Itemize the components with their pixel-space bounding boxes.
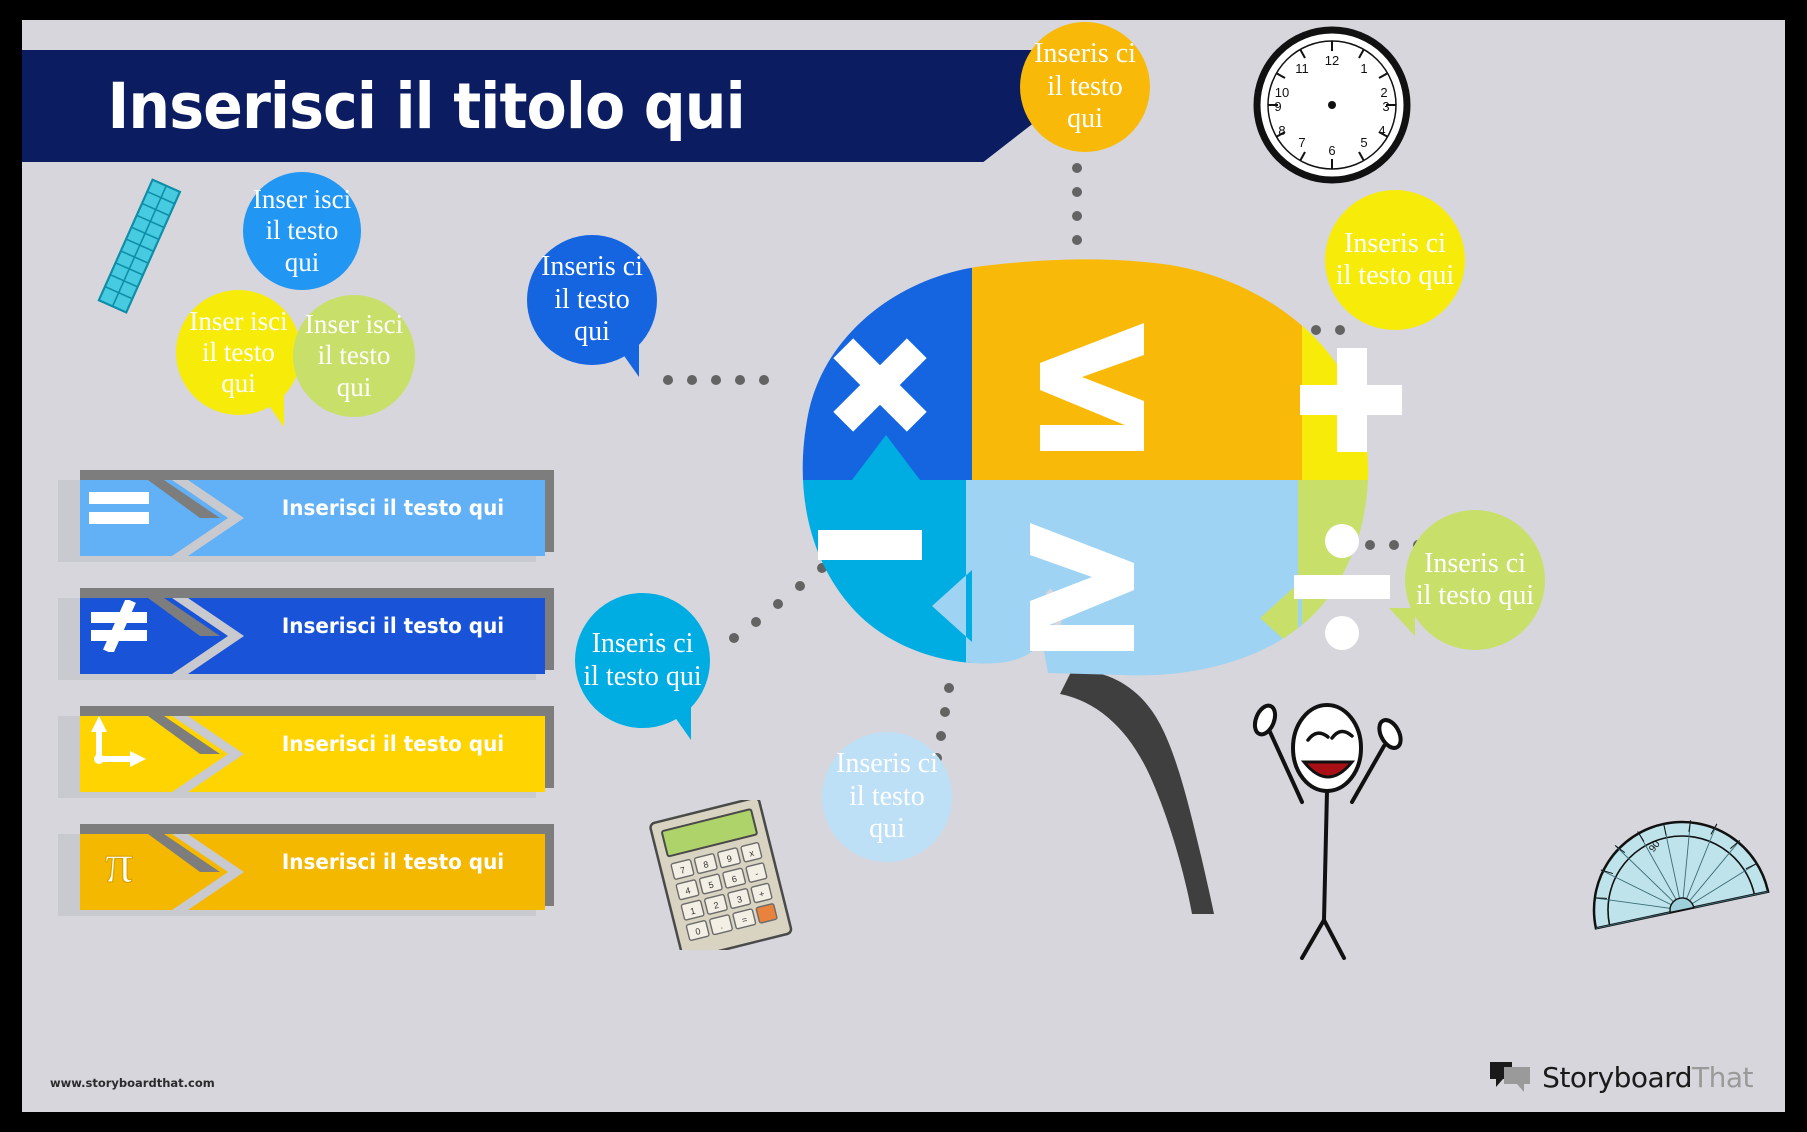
svg-text:11: 11	[1295, 61, 1309, 76]
storyboardthat-logo[interactable]: StoryboardThat	[1488, 1060, 1753, 1094]
bubble-brain-top-orange[interactable]: Inseris ci il testo qui	[1020, 22, 1150, 152]
bar-label: Inserisci il testo qui	[255, 706, 531, 782]
title-banner: Inserisci il titolo qui	[22, 50, 1067, 162]
poster-root: Inserisci il titolo qui	[0, 0, 1807, 1132]
bar-not-equal[interactable]: Inserisci il testo qui	[58, 588, 558, 677]
svg-text:1: 1	[1360, 61, 1367, 76]
bubble-text: Inseris ci il testo qui	[1325, 228, 1465, 293]
not-equal-icon	[64, 588, 174, 664]
protractor-icon: 90	[1582, 790, 1782, 940]
bubble-top-left-blue[interactable]: Inser isci il testo qui	[243, 172, 361, 290]
logo-text-primary: Storyboard	[1542, 1061, 1692, 1094]
bubble-left-yellow[interactable]: Inser isci il testo qui	[176, 290, 301, 415]
svg-text:5: 5	[1360, 135, 1367, 150]
logo-text-secondary: That	[1692, 1061, 1753, 1094]
bubble-text: Inseris ci il testo qui	[1020, 38, 1150, 135]
poster-canvas: Inserisci il titolo qui	[22, 20, 1785, 1112]
bar-axes[interactable]: Inserisci il testo qui	[58, 706, 558, 795]
footer-url[interactable]: www.storyboardthat.com	[50, 1076, 215, 1090]
bar-label: Inserisci il testo qui	[255, 824, 531, 900]
svg-text:6: 6	[1328, 143, 1335, 158]
svg-text:9: 9	[1274, 99, 1281, 114]
bubble-text: Inseris ci il testo qui	[527, 251, 657, 348]
bubble-brain-left-blue[interactable]: Inseris ci il testo qui	[527, 235, 657, 365]
svg-text:8: 8	[1278, 123, 1285, 138]
speech-bubbles-icon	[1488, 1060, 1532, 1094]
cheering-stick-figure	[1232, 670, 1422, 960]
bar-label: Inserisci il testo qui	[255, 470, 531, 546]
logo-text: StoryboardThat	[1542, 1061, 1753, 1094]
math-brain-graphic	[762, 255, 1402, 685]
bar-pi[interactable]: π Inserisci il testo qui	[58, 824, 558, 913]
bubble-text: Inser isci il testo qui	[176, 306, 301, 400]
pi-icon: π	[64, 824, 174, 900]
bar-list: Inserisci il testo qui I	[58, 470, 558, 942]
equals-icon	[64, 470, 174, 546]
analog-clock-icon: 1212 345 678 91011	[1252, 25, 1412, 185]
bubble-left-green[interactable]: Inser isci il testo qui	[293, 295, 415, 417]
bubble-text: Inseris ci il testo qui	[1405, 548, 1545, 613]
svg-text:π: π	[105, 833, 133, 892]
svg-text:4: 4	[1378, 123, 1385, 138]
bubble-bottom-lightblue[interactable]: Inseris ci il testo qui	[822, 732, 952, 862]
bubble-text: Inseris ci il testo qui	[822, 748, 952, 845]
axes-icon	[64, 706, 174, 782]
bubble-brain-cyan[interactable]: Inseris ci il testo qui	[575, 593, 710, 728]
page-title: Inserisci il titolo qui	[22, 70, 745, 143]
connector-dots-top-orange	[1062, 160, 1092, 260]
svg-text:10: 10	[1275, 85, 1289, 100]
svg-text:7: 7	[1298, 135, 1305, 150]
ruler-icon	[84, 175, 194, 320]
bubble-right-yellow[interactable]: Inseris ci il testo qui	[1325, 190, 1465, 330]
svg-text:3: 3	[1382, 99, 1389, 114]
bubble-right-green[interactable]: Inseris ci il testo qui	[1405, 510, 1545, 650]
calculator-icon: 789x 456- 123+ 0.=	[642, 800, 802, 950]
svg-text:2: 2	[1380, 85, 1387, 100]
bubble-text: Inseris ci il testo qui	[575, 628, 710, 693]
bubble-text: Inser isci il testo qui	[243, 184, 361, 278]
bubble-text: Inser isci il testo qui	[293, 309, 415, 403]
bar-equals[interactable]: Inserisci il testo qui	[58, 470, 558, 559]
bar-label: Inserisci il testo qui	[255, 588, 531, 664]
svg-text:12: 12	[1325, 53, 1339, 68]
